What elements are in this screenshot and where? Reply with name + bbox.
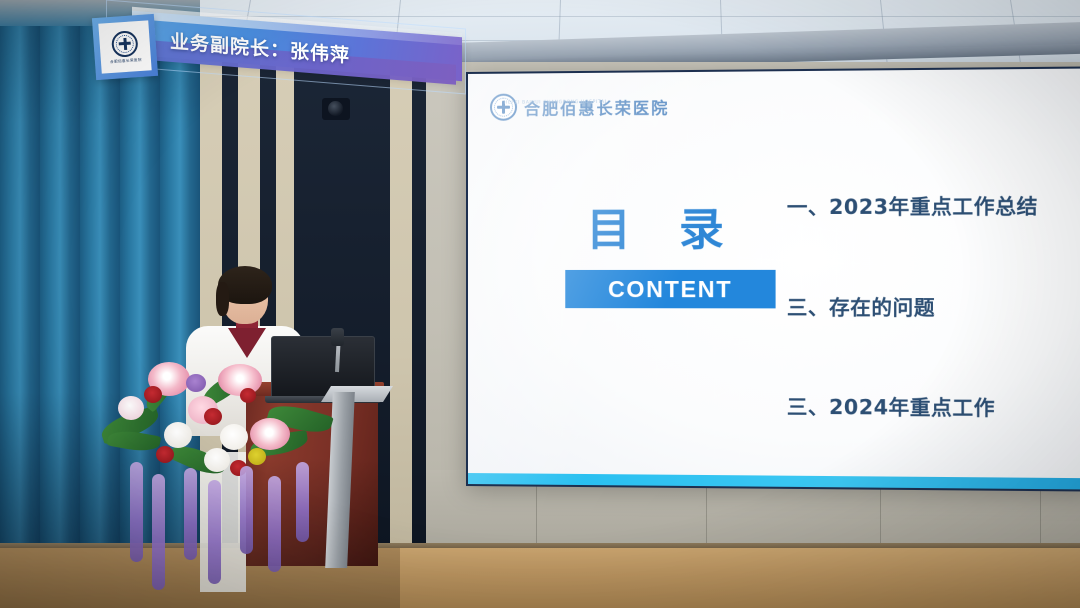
hospital-emblem-icon (490, 94, 517, 121)
toc-item-3: 三、2024年重点工作 (787, 391, 1080, 422)
microphone-head (331, 328, 344, 346)
projection-screen: 合肥佰惠长荣医院 HEFEI BAIHUI CHANGRONG HOSPITAL… (466, 66, 1080, 491)
speaker-cone-icon (328, 101, 343, 116)
slide-header-logo: 合肥佰惠长荣医院 (490, 92, 669, 120)
slide-header-logo-text: 合肥佰惠长荣医院 (524, 94, 669, 119)
presenter-hair-side (216, 282, 229, 316)
wall-slat-dark (412, 62, 426, 548)
hospital-logo-badge: 合肥佰惠长荣医院 (92, 14, 158, 80)
toc-item-2: 三、存在的问题 (787, 291, 1080, 321)
badge-caption: 合肥佰惠长荣医院 (110, 57, 142, 64)
slide-header-logo-sub: HEFEI BAIHUI CHANGRONG HOSPITAL (504, 100, 608, 106)
presentation-room-photo: 合肥佰惠长荣医院 HEFEI BAIHUI CHANGRONG HOSPITAL… (0, 0, 1080, 608)
floral-arrangement (100, 362, 330, 482)
slide-title-cn: 目 录 (586, 193, 740, 258)
hospital-emblem-icon (111, 30, 139, 58)
speaker-name-banner: 业务副院长：张伟萍 合肥佰惠长荣医院 (92, 8, 472, 88)
slide-title-en: CONTENT (565, 270, 775, 309)
toc-item-1: 一、2023年重点工作总结 (787, 190, 1080, 221)
wall-strip-tan (390, 62, 412, 548)
table-of-contents: 一、2023年重点工作总结 三、存在的问题 三、2024年重点工作 (787, 190, 1080, 422)
content-banner: CONTENT (565, 270, 775, 309)
